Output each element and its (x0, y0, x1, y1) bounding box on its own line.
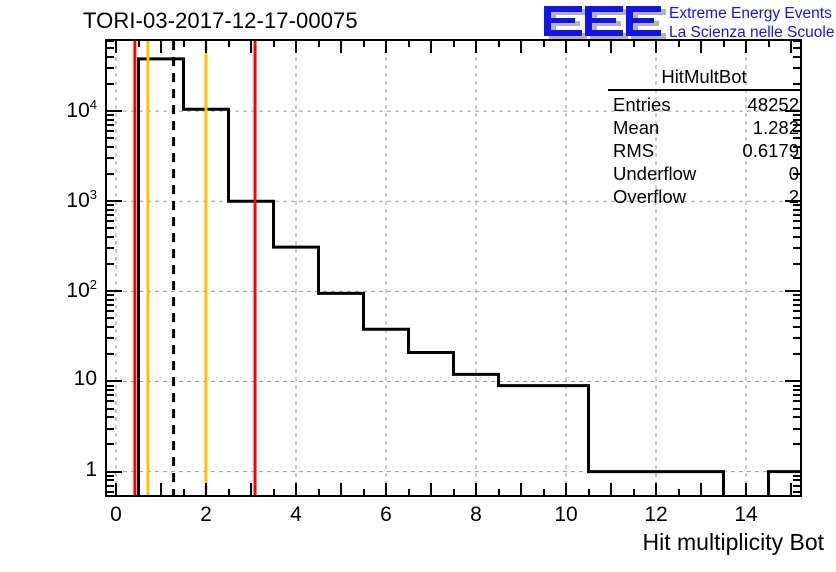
y-tick-major-right (785, 471, 801, 473)
y-tick-minor (106, 130, 114, 132)
x-tick-minor-top (498, 40, 500, 47)
x-tick-minor (498, 489, 500, 496)
stats-row: Mean1.282 (606, 116, 802, 139)
y-tick-minor (106, 47, 114, 49)
x-tick-label: 8 (446, 503, 506, 527)
x-tick-label: 12 (626, 503, 686, 527)
x-tick-minor-top (633, 40, 635, 47)
x-tick-minor (723, 489, 725, 496)
x-tick-minor (633, 489, 635, 496)
y-tick-minor (106, 263, 114, 265)
x-tick-major-top (205, 40, 207, 53)
y-tick-minor-right (793, 408, 801, 410)
x-tick-major (250, 483, 252, 496)
eee-mark-icon (541, 3, 666, 43)
y-tick-minor (106, 157, 114, 159)
y-tick-minor (106, 337, 114, 339)
y-tick-minor-right (793, 236, 801, 238)
y-tick-label: 102 (27, 277, 97, 303)
stats-row-value: 0.6179 (742, 139, 799, 162)
y-tick-minor-right (793, 394, 801, 396)
x-tick-minor-top (318, 40, 320, 47)
y-tick-major (106, 290, 122, 292)
y-tick-minor-right (793, 310, 801, 312)
y-tick-minor-right (793, 317, 801, 319)
root-canvas: TORI-03-2017-12-17-00075 (0, 0, 836, 572)
x-tick-major-top (160, 40, 162, 53)
x-tick-minor-top (543, 40, 545, 47)
y-tick-minor-right (793, 353, 801, 355)
x-tick-major (385, 483, 387, 496)
y-tick-minor (106, 475, 114, 477)
y-tick-minor (106, 294, 114, 296)
y-tick-minor (106, 214, 114, 216)
y-tick-minor (106, 119, 114, 121)
y-tick-minor-right (793, 416, 801, 418)
x-tick-major (340, 483, 342, 496)
x-tick-major-top (250, 40, 252, 53)
y-tick-minor-right (793, 227, 801, 229)
y-tick-minor (106, 408, 114, 410)
x-tick-major (610, 483, 612, 496)
stats-row: RMS0.6179 (606, 139, 802, 162)
x-tick-major-top (700, 40, 702, 53)
x-tick-major (475, 483, 477, 496)
x-tick-major (655, 483, 657, 496)
x-tick-minor-top (363, 40, 365, 47)
x-tick-minor (588, 489, 590, 496)
y-tick-major (106, 110, 122, 112)
x-tick-minor (678, 489, 680, 496)
y-tick-minor-right (793, 247, 801, 249)
x-tick-minor (543, 489, 545, 496)
y-tick-minor-right (793, 214, 801, 216)
y-tick-minor-right (793, 389, 801, 391)
y-tick-minor (106, 299, 114, 301)
y-tick-minor (106, 394, 114, 396)
y-tick-minor-right (793, 428, 801, 430)
stats-row-key: Entries (613, 93, 671, 116)
x-tick-minor-top (678, 40, 680, 47)
y-tick-minor-right (793, 209, 801, 211)
y-tick-minor (106, 310, 114, 312)
y-tick-major (106, 200, 122, 202)
y-tick-minor (106, 317, 114, 319)
y-tick-major (106, 380, 122, 382)
x-tick-minor-top (228, 40, 230, 47)
y-tick-minor-right (793, 326, 801, 328)
stats-row: Overflow2 (606, 185, 802, 208)
x-tick-major-top (430, 40, 432, 53)
stats-row-value: 0 (789, 162, 799, 185)
x-tick-label: 10 (536, 503, 596, 527)
y-tick-minor-right (793, 40, 801, 42)
x-tick-major (160, 483, 162, 496)
x-tick-label: 4 (266, 503, 326, 527)
x-tick-minor (273, 489, 275, 496)
y-tick-minor-right (793, 443, 801, 445)
y-tick-minor (106, 247, 114, 249)
y-tick-label: 104 (27, 97, 97, 123)
x-tick-minor-top (723, 40, 725, 47)
x-tick-major (790, 483, 792, 496)
y-tick-minor-right (793, 485, 801, 487)
x-tick-major (565, 483, 567, 496)
y-tick-minor (106, 485, 114, 487)
x-tick-minor (318, 489, 320, 496)
y-tick-minor (106, 491, 114, 493)
y-tick-minor (106, 389, 114, 391)
stats-row-key: Overflow (613, 185, 686, 208)
x-tick-major-top (565, 40, 567, 53)
stats-row-value: 48252 (748, 93, 799, 116)
x-tick-major (295, 483, 297, 496)
x-tick-minor-top (273, 40, 275, 47)
x-tick-major-top (610, 40, 612, 53)
y-tick-minor (106, 304, 114, 306)
y-tick-minor-right (793, 263, 801, 265)
x-tick-label: 0 (86, 503, 146, 527)
x-tick-major (745, 483, 747, 496)
x-tick-minor (228, 489, 230, 496)
y-tick-minor (106, 236, 114, 238)
y-tick-minor (106, 204, 114, 206)
stats-divider (608, 89, 800, 91)
y-tick-minor (106, 124, 114, 126)
y-tick-minor-right (793, 400, 801, 402)
x-tick-minor-top (408, 40, 410, 47)
y-tick-minor-right (793, 479, 801, 481)
y-tick-minor-right (793, 491, 801, 493)
y-tick-label: 1 (27, 458, 97, 482)
x-tick-major (520, 483, 522, 496)
stats-row-value: 1.282 (753, 116, 799, 139)
y-tick-minor-right (793, 385, 801, 387)
x-tick-major-top (790, 40, 792, 53)
y-tick-minor (106, 443, 114, 445)
x-tick-major-top (340, 40, 342, 53)
stats-row: Underflow0 (606, 162, 802, 185)
x-tick-minor (768, 489, 770, 496)
x-tick-major-top (520, 40, 522, 53)
y-tick-minor (106, 56, 114, 58)
y-tick-minor (106, 400, 114, 402)
page-title: TORI-03-2017-12-17-00075 (83, 8, 358, 34)
x-tick-minor-top (768, 40, 770, 47)
logo-text: Extreme Energy Events La Scienza nelle S… (669, 4, 834, 42)
x-tick-major-top (655, 40, 657, 53)
y-tick-minor (106, 209, 114, 211)
x-tick-minor (453, 489, 455, 496)
y-tick-label: 103 (27, 187, 97, 213)
y-tick-minor-right (793, 294, 801, 296)
x-tick-major (205, 483, 207, 496)
y-tick-minor (106, 83, 114, 85)
x-tick-major (430, 483, 432, 496)
y-tick-minor (106, 353, 114, 355)
stats-title: HitMultBot (606, 66, 802, 89)
x-tick-label: 2 (176, 503, 236, 527)
y-tick-major-right (785, 290, 801, 292)
x-tick-major (115, 483, 117, 496)
y-tick-minor-right (793, 337, 801, 339)
y-tick-minor (106, 385, 114, 387)
stats-box: HitMultBot Entries48252Mean1.282RMS0.617… (606, 66, 802, 208)
x-axis-title: Hit multiplicity Bot (643, 529, 824, 556)
stats-row-value: 2 (789, 185, 799, 208)
y-tick-minor-right (793, 475, 801, 477)
y-tick-minor-right (793, 299, 801, 301)
x-tick-major-top (745, 40, 747, 53)
x-tick-minor-top (453, 40, 455, 47)
x-tick-major (700, 483, 702, 496)
y-tick-minor (106, 114, 114, 116)
y-tick-major-right (785, 380, 801, 382)
x-tick-minor (408, 489, 410, 496)
y-tick-minor (106, 220, 114, 222)
y-tick-minor (106, 137, 114, 139)
x-tick-minor (138, 489, 140, 496)
y-tick-minor (106, 479, 114, 481)
x-tick-major-top (295, 40, 297, 53)
x-tick-major-top (475, 40, 477, 53)
x-tick-minor-top (183, 40, 185, 47)
y-tick-major (106, 471, 122, 473)
y-tick-minor (106, 67, 114, 69)
x-tick-minor (183, 489, 185, 496)
y-tick-label: 10 (27, 367, 97, 391)
logo-line-1: Extreme Energy Events (669, 4, 834, 23)
x-tick-label: 6 (356, 503, 416, 527)
x-tick-minor-top (138, 40, 140, 47)
y-tick-minor-right (793, 220, 801, 222)
y-tick-minor-right (793, 304, 801, 306)
y-tick-minor (106, 146, 114, 148)
x-tick-major-top (385, 40, 387, 53)
stats-row: Entries48252 (606, 93, 802, 116)
y-tick-minor-right (793, 47, 801, 49)
stats-rows: Entries48252Mean1.282RMS0.6179Underflow0… (606, 93, 802, 208)
x-tick-minor-top (588, 40, 590, 47)
x-tick-major-top (115, 40, 117, 53)
y-tick-minor (106, 428, 114, 430)
y-tick-minor (106, 227, 114, 229)
y-tick-minor-right (793, 56, 801, 58)
x-tick-minor (363, 489, 365, 496)
y-tick-minor (106, 40, 114, 42)
stats-row-key: Underflow (613, 162, 696, 185)
x-tick-label: 14 (716, 503, 776, 527)
stats-row-key: RMS (613, 139, 654, 162)
y-tick-minor (106, 173, 114, 175)
y-tick-minor (106, 416, 114, 418)
stats-row-key: Mean (613, 116, 659, 139)
y-tick-minor (106, 326, 114, 328)
